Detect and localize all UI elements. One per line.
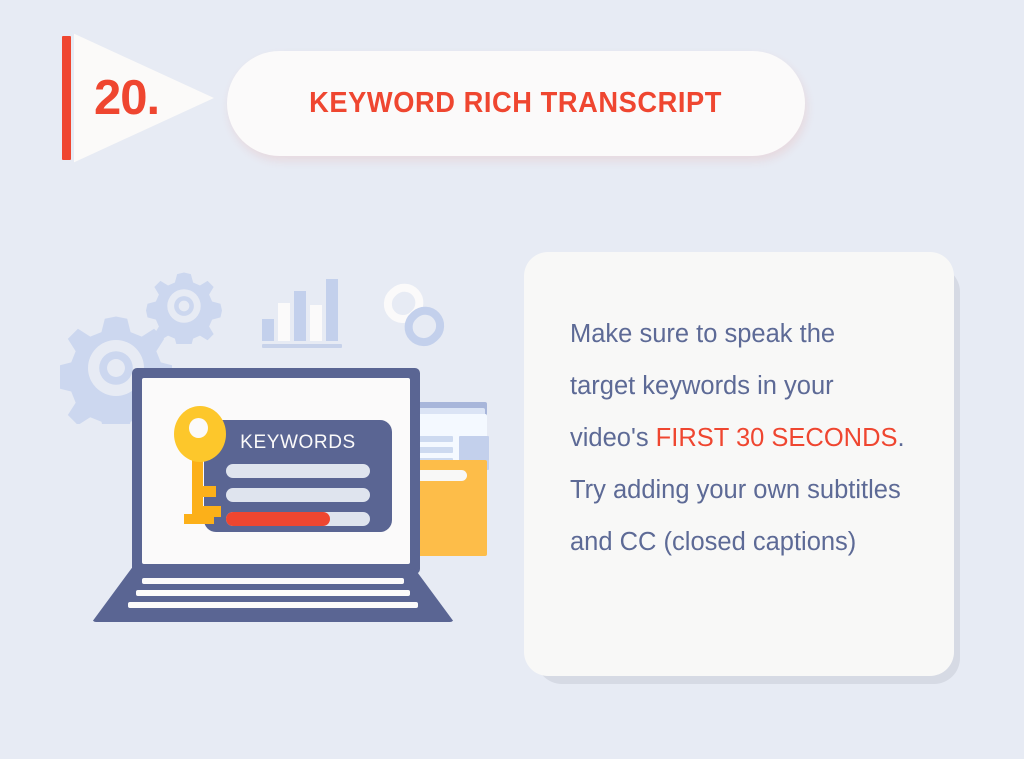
step-number-label: 20. — [94, 28, 194, 168]
keyword-progress-bar — [226, 512, 370, 526]
laptop-lid: KEYWORDS — [132, 368, 420, 574]
panel-body-text: Make sure to speak the target keywords i… — [570, 308, 906, 568]
title-pill: KEYWORD RICH TRANSCRIPT — [227, 51, 805, 156]
text-panel: Make sure to speak the target keywords i… — [524, 252, 954, 676]
laptop-screen: KEYWORDS — [142, 378, 410, 564]
accent-bar — [62, 36, 71, 160]
laptop-icon: KEYWORDS — [92, 368, 454, 630]
keywords-card-title: KEYWORDS — [204, 432, 392, 454]
step-number-badge: 20. — [56, 28, 206, 168]
keyword-bar — [226, 488, 370, 502]
illustration: KEYWORDS — [40, 250, 520, 650]
link-icon — [383, 282, 447, 350]
page-title: KEYWORD RICH TRANSCRIPT — [310, 87, 723, 120]
keyword-bar — [226, 464, 370, 478]
laptop-keyboard — [92, 568, 454, 622]
keywords-card: KEYWORDS — [204, 420, 392, 532]
keyword-progress-fill — [226, 512, 330, 526]
header: 20. KEYWORD RICH TRANSCRIPT — [0, 0, 1024, 200]
bar-chart-icon — [262, 272, 348, 348]
body-text-highlight: FIRST 30 SECONDS — [656, 424, 898, 452]
key-icon — [170, 406, 230, 524]
